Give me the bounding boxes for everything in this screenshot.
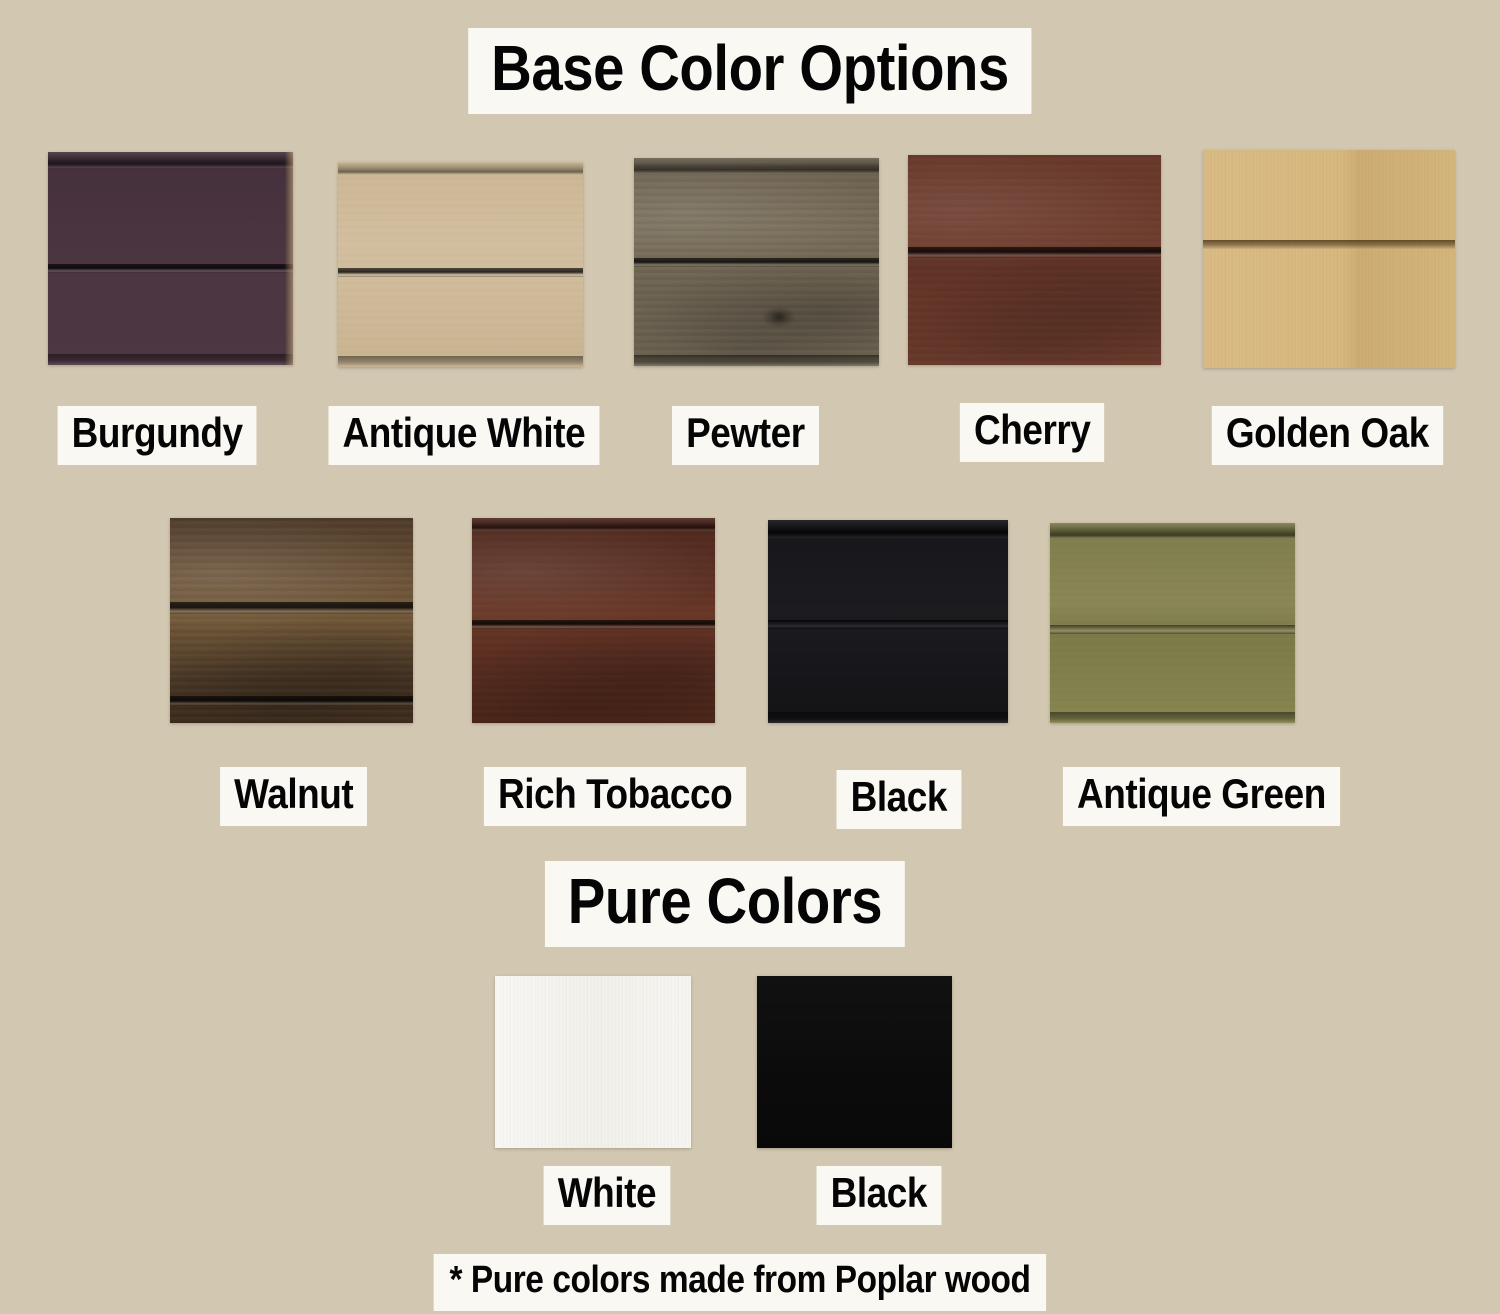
- swatch-walnut[interactable]: [170, 518, 413, 723]
- swatch-label-antique-white: Antique White: [328, 406, 599, 465]
- panel-bottom-rail: [48, 354, 293, 365]
- swatch-antique-green[interactable]: [1050, 523, 1295, 723]
- panel-top-rail: [472, 518, 715, 531]
- panel-top-rail: [634, 158, 879, 174]
- panel-groove: [170, 602, 413, 614]
- swatch-pure-white[interactable]: [495, 976, 691, 1148]
- panel-groove: [908, 247, 1161, 258]
- panel-groove: [48, 264, 293, 273]
- swatch-label-rich-tobacco: Rich Tobacco: [484, 767, 746, 826]
- wood-grain-overlay: [338, 162, 583, 367]
- wood-knot: [762, 306, 796, 328]
- wood-grain-overlay: [1203, 150, 1455, 368]
- swatch-antique-white[interactable]: [338, 162, 583, 367]
- panel-groove-lower: [170, 696, 413, 706]
- swatch-black-base[interactable]: [768, 520, 1008, 723]
- swatch-label-pewter: Pewter: [672, 406, 819, 465]
- pure-colors-title: Pure Colors: [545, 861, 905, 947]
- swatch-burgundy[interactable]: [48, 152, 293, 365]
- swatch-label-black-base: Black: [836, 770, 961, 829]
- color-options-board: Base Color Options Burgundy Antiqu: [0, 0, 1500, 1314]
- swatch-label-cherry: Cherry: [960, 403, 1105, 462]
- panel-groove: [1203, 240, 1455, 250]
- swatch-cherry[interactable]: [908, 155, 1161, 365]
- panel-bottom-rail: [768, 712, 1008, 723]
- swatch-label-burgundy: Burgundy: [58, 406, 257, 465]
- panel-bottom-rail: [1050, 712, 1295, 723]
- panel-groove: [768, 620, 1008, 629]
- panel-side-edge: [284, 152, 293, 365]
- swatch-label-golden-oak: Golden Oak: [1212, 406, 1443, 465]
- panel-bottom-rail: [634, 355, 879, 366]
- panel-groove: [634, 258, 879, 267]
- swatch-label-antique-green: Antique Green: [1063, 767, 1340, 826]
- swatch-label-pure-black: Black: [816, 1166, 941, 1225]
- wood-grain-overlay: [170, 518, 413, 723]
- wood-grain-overlay: [1050, 523, 1295, 723]
- panel-groove: [472, 620, 715, 629]
- swatch-pewter[interactable]: [634, 158, 879, 366]
- panel-top-rail: [768, 520, 1008, 538]
- panel-groove: [338, 268, 583, 277]
- wood-grain-overlay: [495, 976, 691, 1148]
- panel-groove: [1050, 625, 1295, 634]
- panel-bottom-rail: [338, 356, 583, 367]
- swatch-golden-oak[interactable]: [1203, 150, 1455, 368]
- swatch-label-pure-white: White: [544, 1166, 671, 1225]
- swatch-face: [757, 976, 952, 1148]
- panel-top-rail: [1050, 523, 1295, 539]
- swatch-pure-black[interactable]: [757, 976, 952, 1148]
- swatch-rich-tobacco[interactable]: [472, 518, 715, 723]
- swatch-face: [48, 152, 293, 365]
- panel-top-rail: [48, 152, 293, 168]
- footnote-text: * Pure colors made from Poplar wood: [434, 1254, 1047, 1311]
- wood-grain-overlay: [908, 155, 1161, 365]
- panel-top-rail: [338, 162, 583, 175]
- swatch-label-walnut: Walnut: [220, 767, 367, 826]
- page-title: Base Color Options: [468, 28, 1032, 114]
